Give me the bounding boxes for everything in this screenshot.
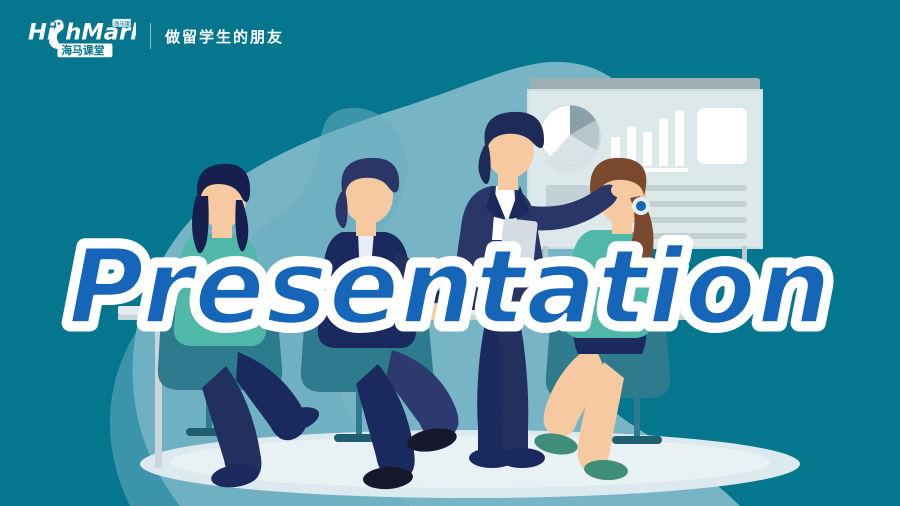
board-blank-panel (697, 108, 747, 164)
highmark-logo[interactable]: Hi hMark 海马课堂 海马课堂 (28, 14, 136, 58)
brand-lockup: Hi hMark 海马课堂 海马课堂 做留学生的朋友 (28, 14, 284, 58)
scene-illustration (0, 0, 900, 506)
logo-sub-label: 海马课堂 (61, 44, 104, 57)
brand-divider (150, 23, 151, 49)
brand-tagline: 做留学生的朋友 (165, 26, 284, 47)
presentation-cover-slide: Hi hMark 海马课堂 海马课堂 做留学生的朋友 Presentat (0, 0, 900, 506)
logo-badge-label: 海马课堂 (114, 19, 135, 27)
